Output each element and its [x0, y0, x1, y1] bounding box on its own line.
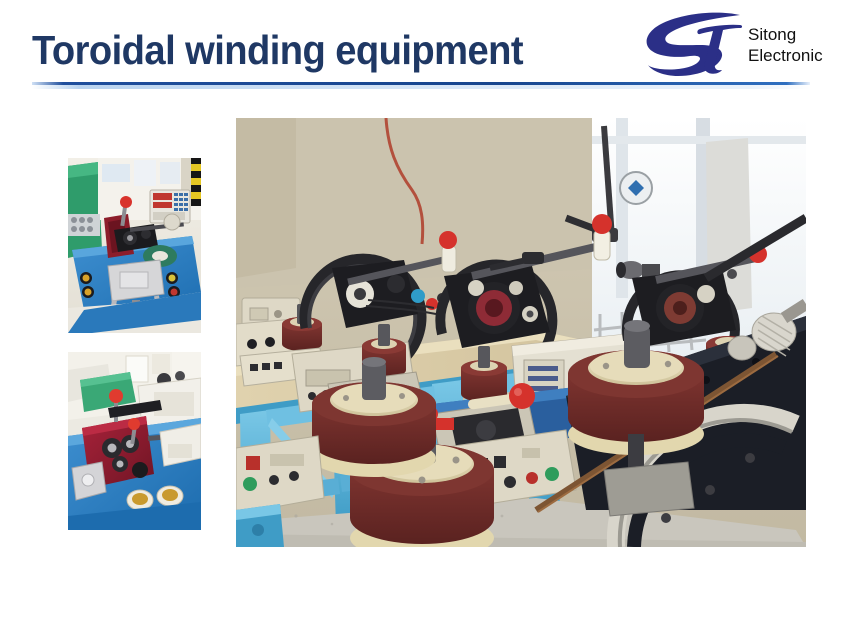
company-name: Sitong Electronic — [748, 24, 823, 66]
page-title: Toroidal winding equipment — [32, 24, 523, 76]
company-name-line2: Electronic — [748, 45, 823, 66]
thumbnail-red-illustration — [68, 352, 201, 530]
company-name-line1: Sitong — [748, 24, 823, 45]
main-photo-illustration — [236, 118, 806, 547]
main-photo-toroidal-winding-line[interactable] — [236, 118, 806, 547]
divider-light-line — [32, 85, 810, 89]
st-monogram-icon — [644, 12, 748, 80]
title-divider — [32, 82, 810, 90]
thumbnail-toroidal-winder-red[interactable] — [68, 352, 201, 530]
thumbnail-toroidal-winder-blue[interactable] — [68, 158, 201, 333]
thumbnail-blue-illustration — [68, 158, 201, 333]
company-logo: Sitong Electronic — [644, 12, 850, 80]
